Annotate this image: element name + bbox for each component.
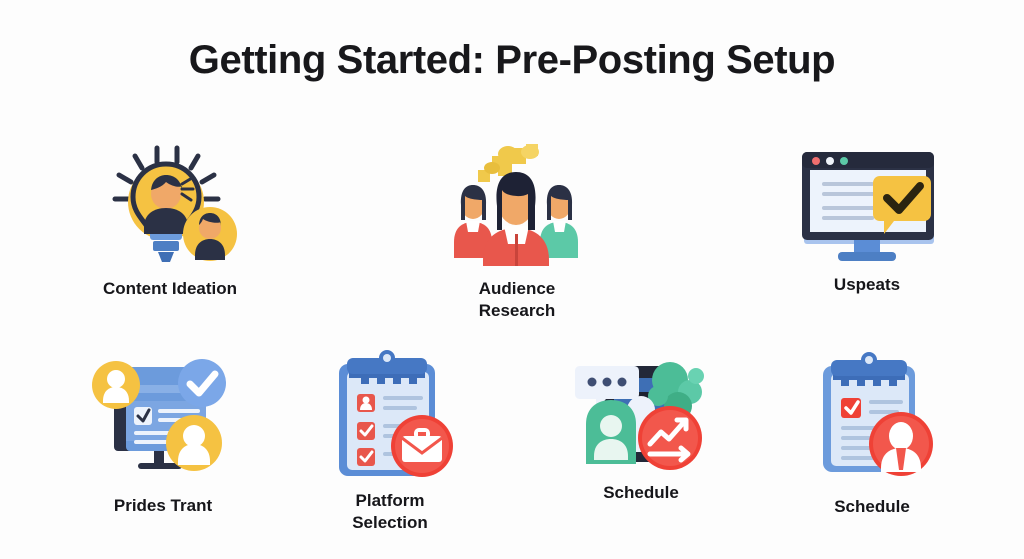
item-uspeats[interactable]: Uspeats bbox=[792, 142, 942, 296]
page-title: Getting Started: Pre-Posting Setup bbox=[0, 38, 1024, 82]
clipboard-user-icon bbox=[797, 352, 947, 482]
lightbulb-person-icon bbox=[95, 142, 245, 272]
infographic-canvas: Getting Started: Pre-Posting Setup bbox=[0, 0, 1024, 559]
item-audience-research[interactable]: Audience Research bbox=[442, 142, 592, 322]
item-schedule-analytics[interactable]: Schedule bbox=[566, 352, 716, 504]
clipboard-envelope-icon bbox=[315, 352, 465, 482]
item-label: Audience Research bbox=[442, 278, 592, 322]
item-prides-trant[interactable]: Prides Trant bbox=[88, 355, 238, 517]
item-platform-selection[interactable]: Platform Selection bbox=[315, 352, 465, 534]
people-group-icon bbox=[442, 142, 592, 272]
item-label: Platform Selection bbox=[352, 490, 428, 534]
item-schedule-clipboard[interactable]: Schedule bbox=[797, 352, 947, 518]
monitor-users-checklist-icon bbox=[88, 355, 238, 485]
item-label: Prides Trant bbox=[114, 495, 212, 517]
item-label: Uspeats bbox=[834, 274, 900, 296]
team-growth-chart-icon bbox=[566, 352, 716, 482]
item-label: Content Ideation bbox=[103, 278, 237, 300]
item-content-ideation[interactable]: Content Ideation bbox=[95, 142, 245, 300]
item-label: Schedule bbox=[603, 482, 679, 504]
item-label: Schedule bbox=[834, 496, 910, 518]
monitor-checkmark-icon bbox=[792, 142, 942, 272]
